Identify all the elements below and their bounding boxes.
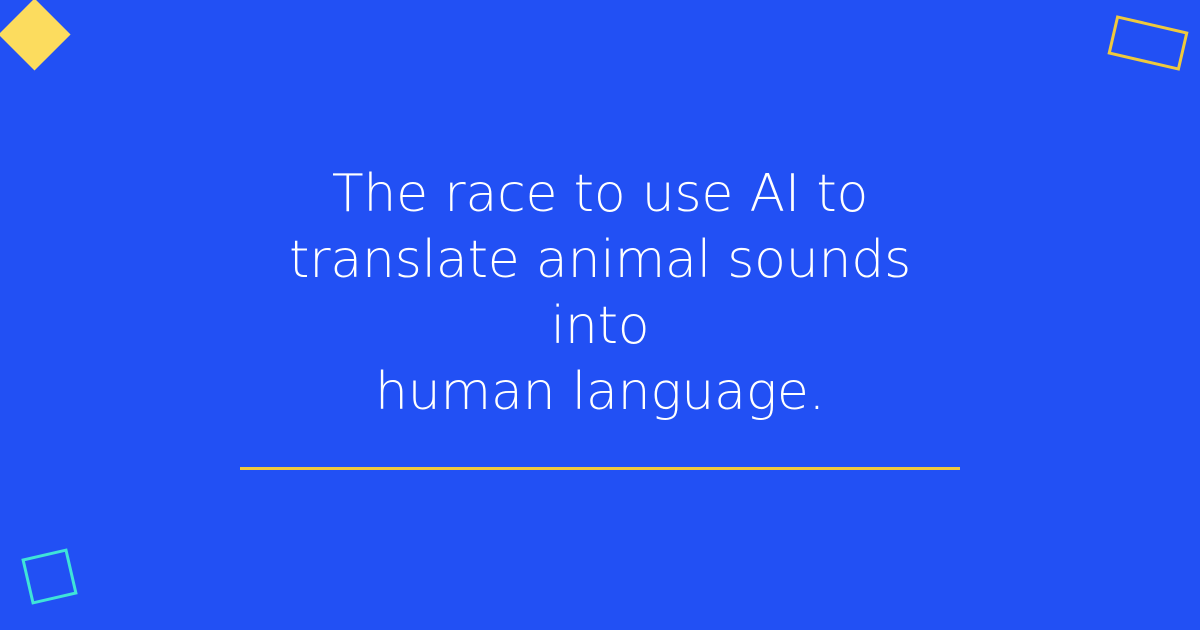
- headline-text: The race to use AI to translate animal s…: [120, 161, 1080, 425]
- divider-rule: [240, 467, 960, 470]
- card-content: The race to use AI to translate animal s…: [0, 0, 1200, 630]
- share-card: The race to use AI to translate animal s…: [0, 0, 1200, 630]
